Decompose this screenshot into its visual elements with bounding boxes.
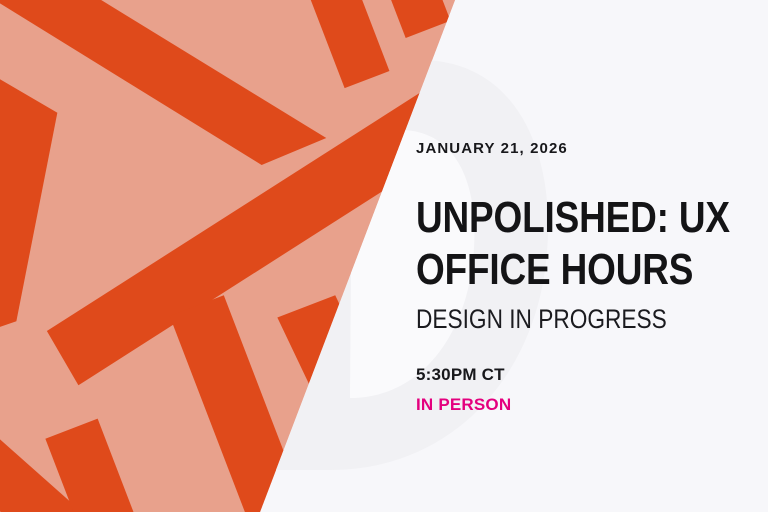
- event-promo-card: JANUARY 21, 2026 UNPOLISHED: UX OFFICE H…: [0, 0, 768, 512]
- content-panel: JANUARY 21, 2026 UNPOLISHED: UX OFFICE H…: [0, 0, 768, 512]
- event-date: JANUARY 21, 2026: [416, 140, 736, 158]
- event-subtitle: DESIGN IN PROGRESS: [416, 303, 685, 335]
- event-location-badge: IN PERSON: [416, 395, 736, 415]
- event-title-line-2: OFFICE HOURS: [416, 244, 685, 296]
- event-text-block: JANUARY 21, 2026 UNPOLISHED: UX OFFICE H…: [416, 140, 736, 415]
- event-title-line-1: UNPOLISHED: UX: [416, 192, 685, 244]
- event-time: 5:30PM CT: [416, 365, 736, 385]
- event-title: UNPOLISHED: UX OFFICE HOURS: [416, 192, 685, 296]
